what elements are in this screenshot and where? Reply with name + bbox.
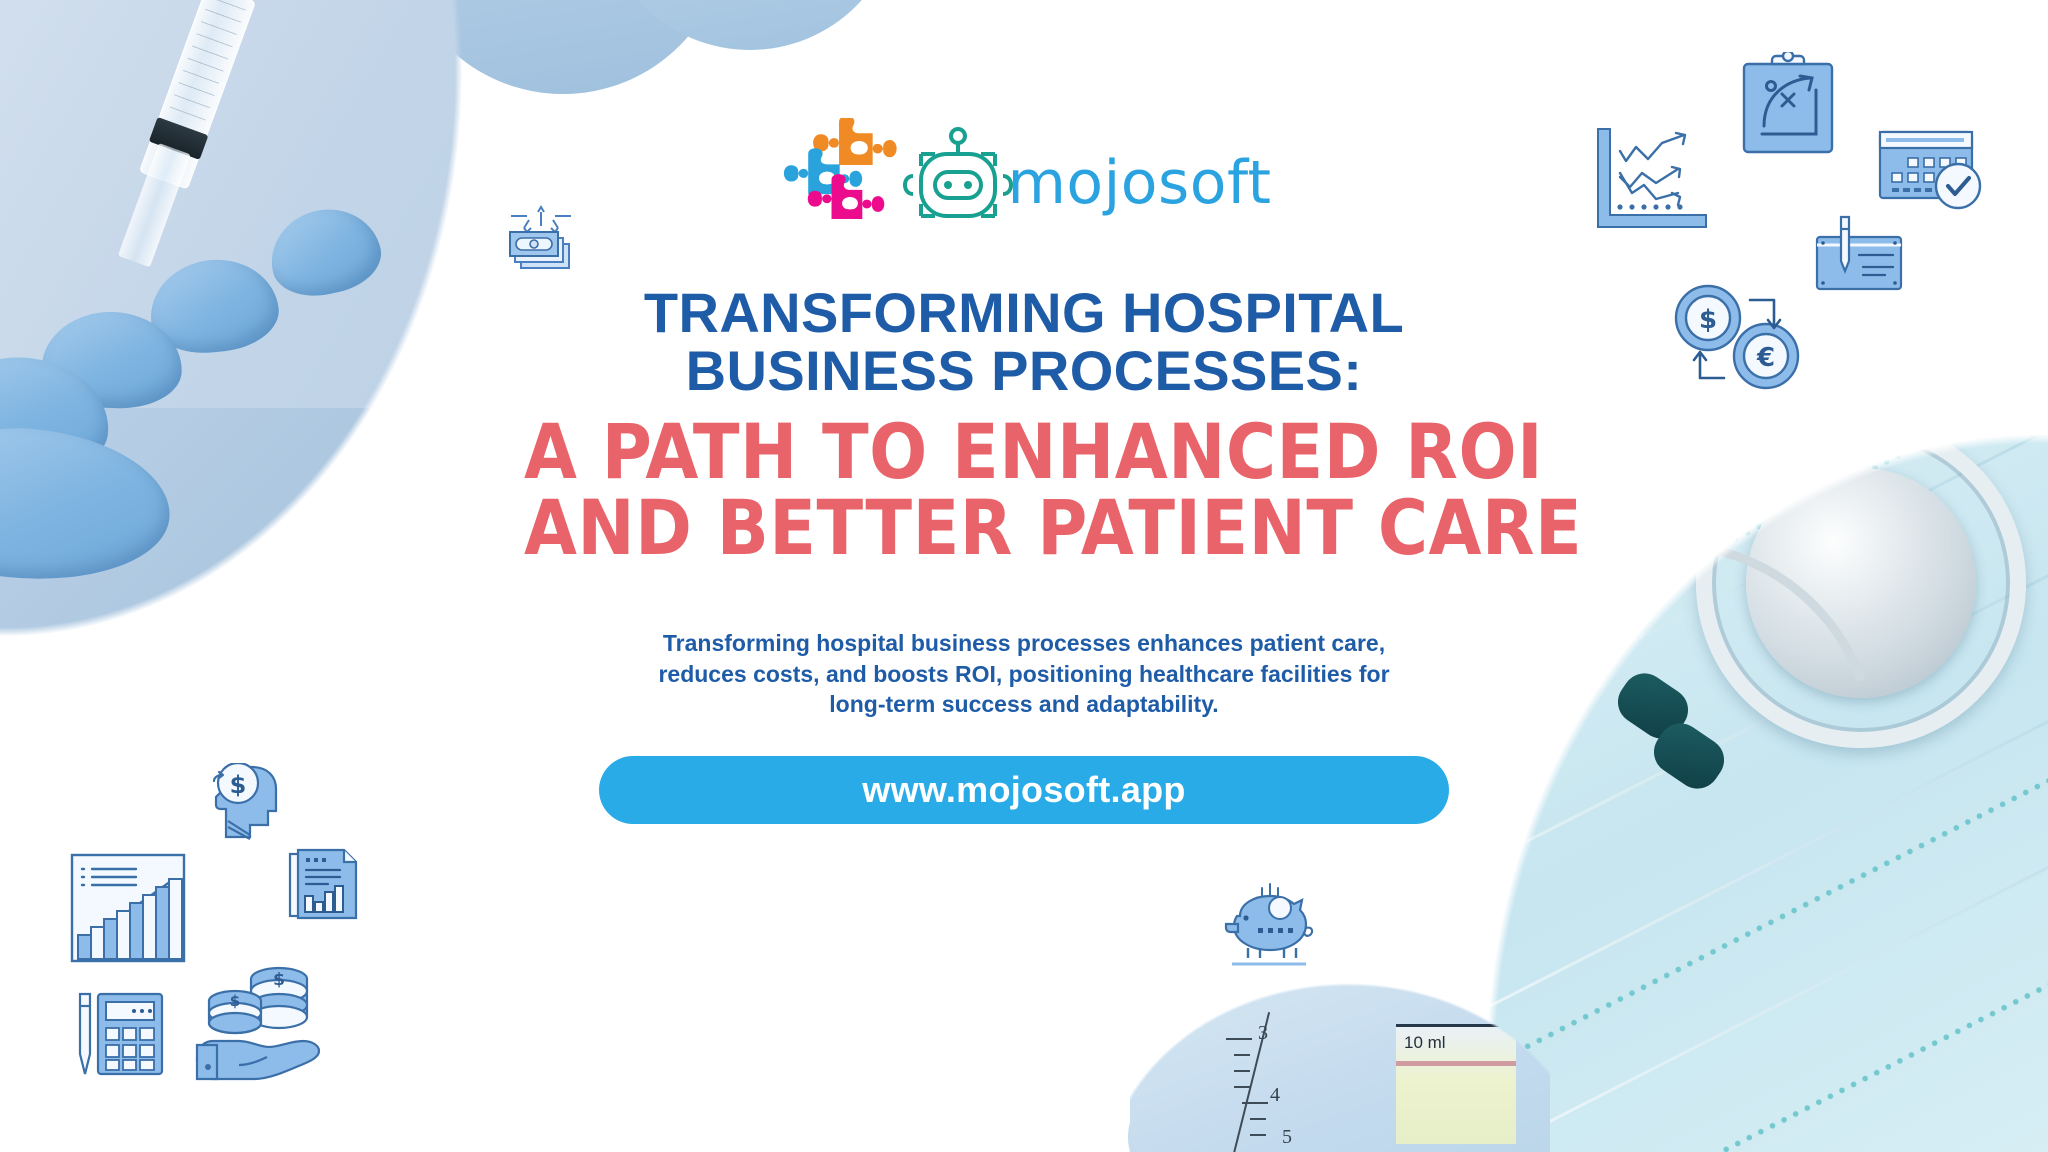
bar-chart-growth-icon bbox=[70, 853, 186, 963]
svg-text:$: $ bbox=[230, 992, 240, 1010]
vial-stripe bbox=[1396, 1061, 1516, 1066]
poster-canvas: - 19 3 4 5 10 ml bbox=[0, 0, 2048, 1152]
website-cta-button[interactable]: www.mojosoft.app bbox=[599, 756, 1449, 824]
headline-kicker-line-2: BUSINESS PROCESSES: bbox=[524, 342, 1524, 400]
robot-head-icon bbox=[899, 124, 1017, 242]
cheque-pen-icon bbox=[1815, 215, 1905, 293]
currency-exchange-icon: $ € bbox=[1672, 278, 1812, 390]
syringe-scale-number: 3 bbox=[1258, 1022, 1268, 1045]
document-chart-icon bbox=[288, 848, 364, 922]
brand-logo[interactable]: mojosoft bbox=[524, 108, 1524, 258]
headline-main-line-1: A PATH TO ENHANCED ROI bbox=[524, 414, 1524, 490]
svg-text:€: € bbox=[1756, 343, 1775, 373]
piggy-bank-icon bbox=[1222, 880, 1318, 968]
headline-kicker-line-1: TRANSFORMING HOSPITAL bbox=[524, 284, 1524, 342]
headline-main: A PATH TO ENHANCED ROI AND BETTER PATIEN… bbox=[524, 414, 1524, 566]
headline-kicker: TRANSFORMING HOSPITAL BUSINESS PROCESSES… bbox=[524, 284, 1524, 400]
svg-text:$: $ bbox=[273, 970, 285, 990]
body-paragraph: Transforming hospital business processes… bbox=[614, 628, 1434, 719]
svg-text:$: $ bbox=[230, 771, 247, 799]
clipboard-strategy-icon bbox=[1738, 52, 1838, 158]
syringe-scale-vial-photo: 3 4 5 10 ml bbox=[1130, 980, 1550, 1152]
body-line-3: long-term success and adaptability. bbox=[614, 689, 1434, 719]
syringe-scale-number: 5 bbox=[1282, 1126, 1292, 1149]
vial-cap bbox=[1402, 894, 1462, 920]
headline-main-line-2: AND BETTER PATIENT CARE bbox=[524, 490, 1524, 566]
calendar-check-icon bbox=[1878, 128, 1986, 212]
body-line-1: Transforming hospital business processes… bbox=[614, 628, 1434, 658]
svg-text:$: $ bbox=[1699, 305, 1717, 335]
vial-volume-label: 10 ml bbox=[1404, 1033, 1446, 1053]
logo-wordmark: mojosoft bbox=[1007, 153, 1271, 213]
syringe-scale-number: 4 bbox=[1270, 1084, 1280, 1107]
gloved-hand-syringe-photo bbox=[0, 0, 530, 760]
head-dollar-idea-icon: $ bbox=[198, 763, 284, 847]
line-chart-axis-icon bbox=[1590, 125, 1710, 235]
calculator-pen-icon bbox=[72, 988, 168, 1080]
poster-content: mojosoft TRANSFORMING HOSPITAL BUSINESS … bbox=[524, 0, 1524, 824]
body-line-2: reduces costs, and boosts ROI, positioni… bbox=[614, 659, 1434, 689]
hand-coins-icon: $ $ bbox=[195, 965, 323, 1083]
medicine-vial: 10 ml bbox=[1396, 1024, 1516, 1144]
